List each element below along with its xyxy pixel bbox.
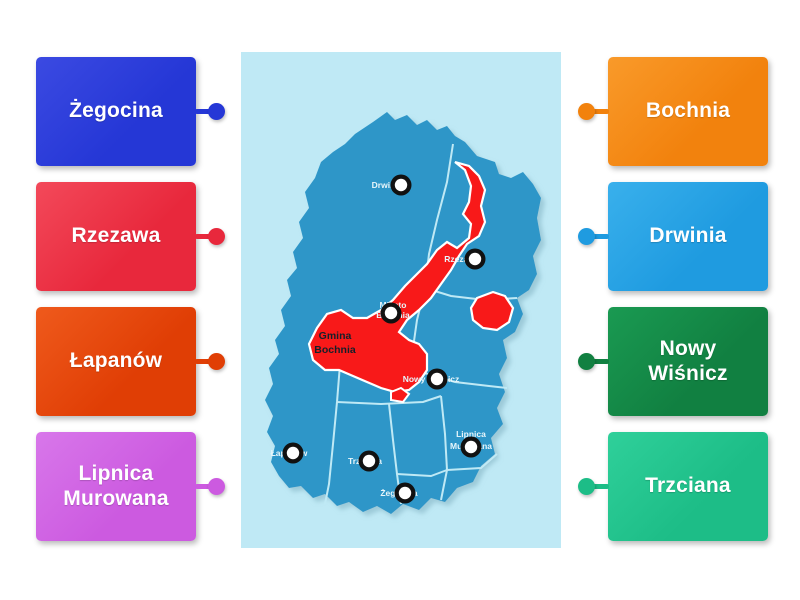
card-label: Drwinia: [649, 224, 726, 249]
card-label: Żegocina: [69, 99, 163, 124]
county-map: Drwinia Rzezawa Miasto Bochnia Gmina Boc…: [241, 52, 561, 548]
card-bochnia-connector[interactable]: [582, 108, 609, 115]
card-lapanow-connector[interactable]: [195, 358, 222, 365]
card-lipnica[interactable]: Lipnica Murowana: [36, 432, 196, 541]
rzezawa-marker[interactable]: [465, 249, 486, 270]
card-lapanow[interactable]: Łapanów: [36, 307, 196, 416]
card-drwinia-connector[interactable]: [582, 233, 609, 240]
card-rzezawa[interactable]: Rzezawa: [36, 182, 196, 291]
card-label: Łapanów: [70, 349, 162, 374]
nowy-wisnicz-marker[interactable]: [427, 369, 448, 390]
miasto-bochnia-marker[interactable]: [381, 303, 402, 324]
zegocina-marker[interactable]: [395, 483, 416, 504]
connector-knob[interactable]: [578, 478, 595, 495]
card-nowy-wisnicz-connector[interactable]: [582, 358, 609, 365]
connector-knob[interactable]: [208, 103, 225, 120]
lapanow-marker[interactable]: [283, 443, 304, 464]
card-label: Rzezawa: [72, 224, 161, 249]
drwinia-marker[interactable]: [391, 175, 412, 196]
card-rzezawa-connector[interactable]: [195, 233, 222, 240]
card-nowy-wisnicz[interactable]: Nowy Wiśnicz: [608, 307, 768, 416]
connector-knob[interactable]: [208, 228, 225, 245]
card-label: Bochnia: [646, 99, 730, 124]
card-trzciana-connector[interactable]: [582, 483, 609, 490]
connector-knob[interactable]: [578, 103, 595, 120]
card-lipnica-connector[interactable]: [195, 483, 222, 490]
connector-knob[interactable]: [578, 228, 595, 245]
card-drwinia[interactable]: Drwinia: [608, 182, 768, 291]
card-label: Lipnica Murowana: [63, 462, 168, 512]
card-label: Nowy Wiśnicz: [648, 337, 727, 387]
lipnica-murowana-marker[interactable]: [461, 437, 482, 458]
card-bochnia[interactable]: Bochnia: [608, 57, 768, 166]
card-zegocina-connector[interactable]: [195, 108, 222, 115]
card-label: Trzciana: [645, 474, 731, 499]
connector-knob[interactable]: [208, 353, 225, 370]
connector-knob[interactable]: [208, 478, 225, 495]
map-panel: Drwinia Rzezawa Miasto Bochnia Gmina Boc…: [241, 52, 561, 548]
card-zegocina[interactable]: Żegocina: [36, 57, 196, 166]
trzciana-marker[interactable]: [359, 451, 380, 472]
connector-knob[interactable]: [578, 353, 595, 370]
card-trzciana[interactable]: Trzciana: [608, 432, 768, 541]
